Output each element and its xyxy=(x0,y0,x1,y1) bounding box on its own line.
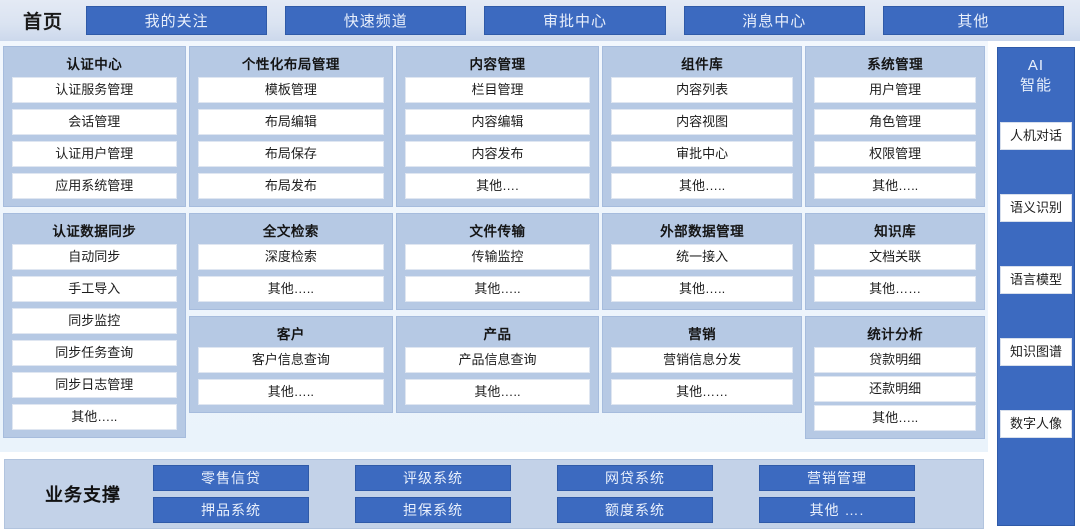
menu-item[interactable]: 认证服务管理 xyxy=(12,77,177,103)
business-button-other[interactable]: 其他 …. xyxy=(759,497,915,523)
module-column-4: 组件库 内容列表 内容视图 审批中心 其他….. 外部数据管理 统一接入 其他…… xyxy=(602,43,803,452)
menu-item[interactable]: 产品信息查询 xyxy=(405,347,590,373)
menu-item[interactable]: 会话管理 xyxy=(12,109,177,135)
menu-item[interactable]: 模板管理 xyxy=(198,77,385,103)
ai-title-line-1: AI xyxy=(1020,56,1052,76)
menu-item[interactable]: 同步任务查询 xyxy=(12,340,177,366)
business-button-rating-system[interactable]: 评级系统 xyxy=(355,465,511,491)
menu-item[interactable]: 栏目管理 xyxy=(405,77,590,103)
module-column-3: 内容管理 栏目管理 内容编辑 内容发布 其他…. 文件传输 传输监控 其他…..… xyxy=(396,43,599,452)
menu-item[interactable]: 同步日志管理 xyxy=(12,372,177,398)
card-title: 组件库 xyxy=(611,50,794,77)
ai-sidebar-panel: AI 智能 人机对话 语义识别 语言模型 知识图谱 数字人像 xyxy=(997,47,1075,526)
menu-item[interactable]: 内容编辑 xyxy=(405,109,590,135)
card-title: 统计分析 xyxy=(814,320,976,347)
menu-item[interactable]: 其他….. xyxy=(611,276,794,302)
card-title: 个性化布局管理 xyxy=(198,50,385,77)
business-support-label: 业务支撑 xyxy=(13,481,153,507)
menu-item[interactable]: 深度检索 xyxy=(198,244,385,270)
business-button-marketing-mgmt[interactable]: 营销管理 xyxy=(759,465,915,491)
ai-title-line-2: 智能 xyxy=(1020,76,1052,96)
menu-item[interactable]: 其他….. xyxy=(611,173,794,199)
ai-button-human-machine-dialog[interactable]: 人机对话 xyxy=(1000,122,1072,150)
menu-item[interactable]: 客户信息查询 xyxy=(198,347,385,373)
card-personalized-layout: 个性化布局管理 模板管理 布局编辑 布局保存 布局发布 xyxy=(189,46,394,207)
card-marketing: 营销 营销信息分发 其他…… xyxy=(602,316,803,413)
nav-home-label[interactable]: 首页 xyxy=(0,7,86,34)
card-system-management: 系统管理 用户管理 角色管理 权限管理 其他….. xyxy=(805,46,985,207)
business-support-bar: 业务支撑 零售信贷 评级系统 网贷系统 营销管理 押品系统 担保系统 额度系统 … xyxy=(4,459,984,529)
card-item-list: 文档关联 其他…… xyxy=(814,244,976,302)
menu-item[interactable]: 统一接入 xyxy=(611,244,794,270)
card-item-list: 内容列表 内容视图 审批中心 其他….. xyxy=(611,77,794,199)
ai-button-knowledge-graph[interactable]: 知识图谱 xyxy=(1000,338,1072,366)
menu-item[interactable]: 营销信息分发 xyxy=(611,347,794,373)
menu-item[interactable]: 应用系统管理 xyxy=(12,173,177,199)
menu-item[interactable]: 其他….. xyxy=(405,276,590,302)
nav-tab-message-center[interactable]: 消息中心 xyxy=(684,6,865,35)
menu-item[interactable]: 其他….. xyxy=(405,379,590,405)
card-title: 知识库 xyxy=(814,217,976,244)
menu-item[interactable]: 布局编辑 xyxy=(198,109,385,135)
card-item-list: 贷款明细 还款明细 其他….. xyxy=(814,347,976,431)
menu-item[interactable]: 内容视图 xyxy=(611,109,794,135)
menu-item[interactable]: 其他…… xyxy=(611,379,794,405)
nav-tab-quick-channel[interactable]: 快速频道 xyxy=(285,6,466,35)
business-button-credit-limit[interactable]: 额度系统 xyxy=(557,497,713,523)
card-item-list: 产品信息查询 其他….. xyxy=(405,347,590,405)
menu-item[interactable]: 内容发布 xyxy=(405,141,590,167)
module-column-5: 系统管理 用户管理 角色管理 权限管理 其他….. 知识库 文档关联 其他…… … xyxy=(805,43,985,452)
business-button-online-loan[interactable]: 网贷系统 xyxy=(557,465,713,491)
card-content-management: 内容管理 栏目管理 内容编辑 内容发布 其他…. xyxy=(396,46,599,207)
nav-tab-other[interactable]: 其他 xyxy=(883,6,1064,35)
card-item-list: 深度检索 其他….. xyxy=(198,244,385,302)
ai-button-semantic-recognition[interactable]: 语义识别 xyxy=(1000,194,1072,222)
nav-tab-approval-center[interactable]: 审批中心 xyxy=(484,6,665,35)
card-item-list: 统一接入 其他….. xyxy=(611,244,794,302)
menu-item[interactable]: 权限管理 xyxy=(814,141,976,167)
menu-item[interactable]: 还款明细 xyxy=(814,376,976,402)
ai-button-digital-avatar[interactable]: 数字人像 xyxy=(1000,410,1072,438)
menu-item[interactable]: 贷款明细 xyxy=(814,347,976,373)
menu-item[interactable]: 布局保存 xyxy=(198,141,385,167)
card-title: 文件传输 xyxy=(405,217,590,244)
nav-tab-my-focus[interactable]: 我的关注 xyxy=(86,6,267,35)
business-button-retail-credit[interactable]: 零售信贷 xyxy=(153,465,309,491)
card-title: 产品 xyxy=(405,320,590,347)
module-grid: 认证中心 认证服务管理 会话管理 认证用户管理 应用系统管理 认证数据同步 自动… xyxy=(0,41,988,452)
menu-item[interactable]: 其他…… xyxy=(814,276,976,302)
menu-item[interactable]: 内容列表 xyxy=(611,77,794,103)
business-support-button-grid: 零售信贷 评级系统 网贷系统 营销管理 押品系统 担保系统 额度系统 其他 …. xyxy=(153,465,975,523)
card-item-list: 栏目管理 内容编辑 内容发布 其他…. xyxy=(405,77,590,199)
card-title: 全文检索 xyxy=(198,217,385,244)
card-title: 客户 xyxy=(198,320,385,347)
menu-item[interactable]: 其他….. xyxy=(12,404,177,430)
menu-item[interactable]: 认证用户管理 xyxy=(12,141,177,167)
card-title: 外部数据管理 xyxy=(611,217,794,244)
menu-item[interactable]: 其他….. xyxy=(198,276,385,302)
business-button-guarantee[interactable]: 担保系统 xyxy=(355,497,511,523)
card-auth-data-sync: 认证数据同步 自动同步 手工导入 同步监控 同步任务查询 同步日志管理 其他….… xyxy=(3,213,186,438)
module-column-1: 认证中心 认证服务管理 会话管理 认证用户管理 应用系统管理 认证数据同步 自动… xyxy=(3,43,186,452)
card-item-list: 认证服务管理 会话管理 认证用户管理 应用系统管理 xyxy=(12,77,177,199)
menu-item[interactable]: 手工导入 xyxy=(12,276,177,302)
card-file-transfer: 文件传输 传输监控 其他….. xyxy=(396,213,599,310)
card-fulltext-search: 全文检索 深度检索 其他….. xyxy=(189,213,394,310)
menu-item[interactable]: 布局发布 xyxy=(198,173,385,199)
card-auth-center: 认证中心 认证服务管理 会话管理 认证用户管理 应用系统管理 xyxy=(3,46,186,207)
card-item-list: 自动同步 手工导入 同步监控 同步任务查询 同步日志管理 其他….. xyxy=(12,244,177,430)
card-title: 认证数据同步 xyxy=(12,217,177,244)
card-title: 认证中心 xyxy=(12,50,177,77)
card-item-list: 营销信息分发 其他…… xyxy=(611,347,794,405)
business-button-collateral[interactable]: 押品系统 xyxy=(153,497,309,523)
card-item-list: 用户管理 角色管理 权限管理 其他….. xyxy=(814,77,976,199)
menu-item[interactable]: 文档关联 xyxy=(814,244,976,270)
card-item-list: 客户信息查询 其他….. xyxy=(198,347,385,405)
card-customer: 客户 客户信息查询 其他….. xyxy=(189,316,394,413)
menu-item[interactable]: 其他….. xyxy=(198,379,385,405)
card-product: 产品 产品信息查询 其他….. xyxy=(396,316,599,413)
menu-item[interactable]: 角色管理 xyxy=(814,109,976,135)
portal-page: 首页 我的关注 快速频道 审批中心 消息中心 其他 认证中心 认证服务管理 会话… xyxy=(0,0,1080,532)
card-statistical-analysis: 统计分析 贷款明细 还款明细 其他….. xyxy=(805,316,985,439)
card-title: 营销 xyxy=(611,320,794,347)
card-knowledge-base: 知识库 文档关联 其他…… xyxy=(805,213,985,310)
card-title: 内容管理 xyxy=(405,50,590,77)
menu-item[interactable]: 同步监控 xyxy=(12,308,177,334)
nav-tab-list: 我的关注 快速频道 审批中心 消息中心 其他 xyxy=(86,6,1080,35)
menu-item[interactable]: 传输监控 xyxy=(405,244,590,270)
top-navigation-bar: 首页 我的关注 快速频道 审批中心 消息中心 其他 xyxy=(0,0,1080,41)
module-column-2: 个性化布局管理 模板管理 布局编辑 布局保存 布局发布 全文检索 深度检索 其他… xyxy=(189,43,394,452)
ai-button-language-model[interactable]: 语言模型 xyxy=(1000,266,1072,294)
menu-item[interactable]: 自动同步 xyxy=(12,244,177,270)
menu-item[interactable]: 审批中心 xyxy=(611,141,794,167)
card-title: 系统管理 xyxy=(814,50,976,77)
menu-item[interactable]: 其他….. xyxy=(814,173,976,199)
card-component-library: 组件库 内容列表 内容视图 审批中心 其他….. xyxy=(602,46,803,207)
ai-sidebar: AI 智能 人机对话 语义识别 语言模型 知识图谱 数字人像 xyxy=(992,43,1080,530)
menu-item[interactable]: 其他….. xyxy=(814,405,976,431)
ai-sidebar-title: AI 智能 xyxy=(1020,56,1052,96)
card-item-list: 传输监控 其他….. xyxy=(405,244,590,302)
card-item-list: 模板管理 布局编辑 布局保存 布局发布 xyxy=(198,77,385,199)
menu-item[interactable]: 其他…. xyxy=(405,173,590,199)
menu-item[interactable]: 用户管理 xyxy=(814,77,976,103)
card-external-data-management: 外部数据管理 统一接入 其他….. xyxy=(602,213,803,310)
